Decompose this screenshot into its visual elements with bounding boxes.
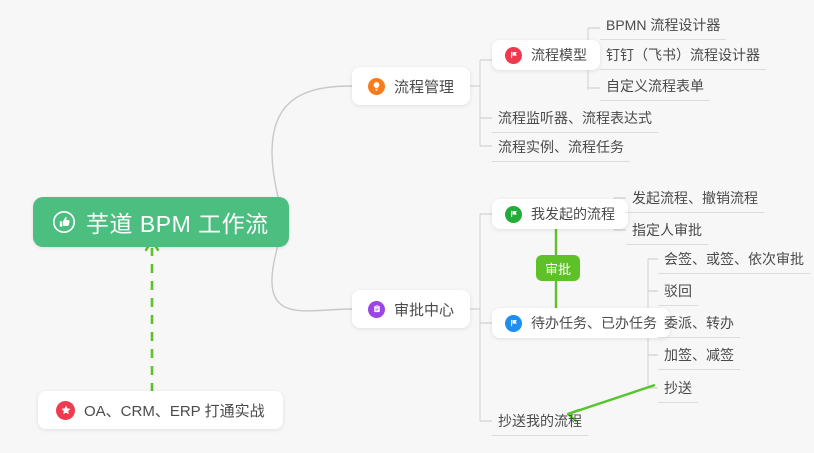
mindmap-canvas: 芋道 BPM 工作流 流程管理 流程模型 BPMN 流程设计器 钉钉（飞书）流程… [0, 0, 814, 453]
flag-icon [505, 206, 522, 223]
arrow-tag-approval-label: 审批 [545, 259, 571, 278]
leaf-node-delegate-transfer[interactable]: 委派、转办 [658, 308, 740, 338]
flag-icon [505, 315, 522, 332]
leaf-label-start-cancel-process: 发起流程、撤销流程 [632, 188, 758, 208]
leaf-node-process-instance[interactable]: 流程实例、流程任务 [492, 132, 630, 162]
leaf-node-bpmn-designer[interactable]: BPMN 流程设计器 [600, 10, 726, 40]
branch-node-approval-center[interactable]: 审批中心 [352, 290, 470, 328]
leaf-node-start-cancel-process[interactable]: 发起流程、撤销流程 [626, 183, 764, 213]
leaf-label-add-remove-sign: 加签、减签 [664, 345, 734, 365]
branch-label-process-model: 流程模型 [531, 45, 587, 65]
leaf-node-add-remove-sign[interactable]: 加签、减签 [658, 340, 740, 370]
branch-node-process-management[interactable]: 流程管理 [352, 67, 470, 105]
leaf-label-bpmn-designer: BPMN 流程设计器 [606, 15, 720, 35]
arrow-integration-to-root [146, 240, 158, 392]
thumbs-up-icon [53, 211, 75, 233]
lightbulb-icon [368, 78, 385, 95]
root-node[interactable]: 芋道 BPM 工作流 [33, 197, 289, 247]
root-label: 芋道 BPM 工作流 [86, 205, 269, 239]
leaf-node-assignee-approval[interactable]: 指定人审批 [626, 215, 708, 245]
leaf-label-custom-process-form: 自定义流程表单 [606, 76, 704, 96]
leaf-node-countersign[interactable]: 会签、或签、依次审批 [658, 244, 810, 274]
note-node-integration[interactable]: OA、CRM、ERP 打通实战 [38, 391, 283, 429]
flag-icon [505, 47, 522, 64]
leaf-node-process-listener[interactable]: 流程监听器、流程表达式 [492, 103, 658, 133]
leaf-node-custom-process-form[interactable]: 自定义流程表单 [600, 71, 710, 101]
branch-label-my-initiated-process: 我发起的流程 [531, 204, 615, 224]
leaf-node-reject[interactable]: 驳回 [658, 276, 698, 306]
branch-node-process-model[interactable]: 流程模型 [492, 40, 600, 70]
leaf-label-process-listener: 流程监听器、流程表达式 [498, 108, 652, 128]
leaf-label-delegate-transfer: 委派、转办 [664, 313, 734, 333]
leaf-label-assignee-approval: 指定人审批 [632, 220, 702, 240]
branch-node-todo-done-task[interactable]: 待办任务、已办任务 [492, 308, 670, 338]
document-icon [368, 301, 385, 318]
branch-node-my-initiated-process[interactable]: 我发起的流程 [492, 199, 628, 229]
leaf-node-cc-to-me-process[interactable]: 抄送我的流程 [492, 406, 588, 436]
leaf-node-carbon-copy[interactable]: 抄送 [658, 373, 698, 403]
leaf-label-cc-to-me-process: 抄送我的流程 [498, 411, 582, 431]
leaf-label-process-instance: 流程实例、流程任务 [498, 137, 624, 157]
branch-label-approval-center: 审批中心 [394, 299, 454, 320]
star-icon [56, 401, 75, 420]
leaf-label-reject: 驳回 [664, 281, 692, 301]
leaf-label-carbon-copy: 抄送 [664, 378, 692, 398]
link-root-to-process-management [272, 86, 352, 212]
branch-label-todo-done-task: 待办任务、已办任务 [531, 313, 657, 333]
note-label-integration: OA、CRM、ERP 打通实战 [84, 400, 265, 421]
arrow-tag-approval: 审批 [536, 255, 580, 281]
leaf-label-dingtalk-designer: 钉钉（飞书）流程设计器 [606, 45, 760, 65]
branch-label-process-management: 流程管理 [394, 76, 454, 97]
leaf-label-countersign: 会签、或签、依次审批 [664, 249, 804, 269]
leaf-node-dingtalk-designer[interactable]: 钉钉（飞书）流程设计器 [600, 40, 766, 70]
